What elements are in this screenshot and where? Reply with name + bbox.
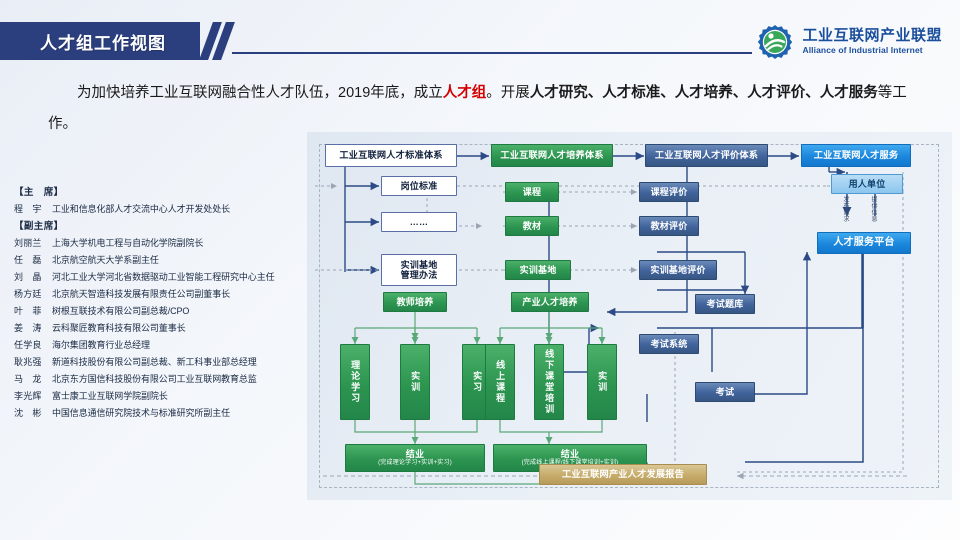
service-platform[interactable]: 人才服务平台	[817, 232, 911, 254]
list-item: 马 龙北京东方国信科技股份有限公司工业互联网教育总监	[14, 371, 304, 388]
track-industry-child-practice[interactable]: 实训	[587, 344, 617, 420]
roster-org: 河北工业大学河北省数据驱动工业智能工程研究中心主任	[52, 272, 275, 282]
list-item: 叶 菲树根互联技术有限公司副总裁/CPO	[14, 303, 304, 320]
standard-base-rule-line1: 实训基地	[401, 260, 438, 270]
service-employer[interactable]: 用人单位	[831, 174, 903, 194]
list-item: 李光辉富士康工业互联网学院副院长	[14, 388, 304, 405]
completion-teacher-note: (完成理论学习+实训+实习)	[378, 460, 452, 467]
exam-bank[interactable]: 考试题库	[695, 294, 755, 314]
intro-seg-2: 。开展	[486, 85, 530, 101]
page-title: 人才组工作视图	[40, 29, 166, 54]
standard-base-rule-line2: 管理办法	[401, 270, 438, 280]
list-item: 任 磊北京航空航天大学系副主任	[14, 252, 304, 269]
roster-name: 耿兆强	[14, 354, 52, 371]
header-rule	[232, 52, 752, 54]
pillar-evaluation-label: 工业互联网人才评价体系	[655, 150, 758, 161]
track-teacher-child-practice[interactable]: 实训	[400, 344, 430, 420]
industry-child-online-label: 线上课程	[495, 360, 505, 404]
alliance-logo: 工业互联网产业联盟 Alliance of Industrial Interne…	[755, 22, 942, 62]
standard-item-ellipsis[interactable]: ……	[381, 212, 457, 232]
service-label-publish-demand: 发布需求	[841, 196, 850, 222]
roster-org: 云科聚匠教育科技有限公司董事长	[52, 323, 186, 333]
teacher-child-practice-label: 实训	[410, 371, 420, 393]
service-platform-label: 人才服务平台	[833, 237, 894, 249]
roster-chair-heading: 【主 席】	[14, 184, 304, 201]
intro-bold-list: 人才研究、人才标准、人才培养、人才评价、人才服务	[530, 85, 878, 101]
pillar-standard-label: 工业互联网人才标准体系	[339, 150, 442, 161]
resource-material-label: 教材	[523, 221, 541, 231]
completion-teacher-title: 结业	[406, 449, 424, 459]
roster-name: 刘 晶	[14, 269, 52, 286]
evaluation-base-label: 实训基地评价	[650, 265, 705, 275]
industry-child-practice-label: 实训	[597, 371, 607, 393]
roster-name: 任 磊	[14, 252, 52, 269]
roster-name: 马 龙	[14, 371, 52, 388]
list-item: 刘 晶河北工业大学河北省数据驱动工业智能工程研究中心主任	[14, 269, 304, 286]
intro-highlight: 人才组	[443, 85, 487, 101]
roster-org: 新道科技股份有限公司副总裁、新工科事业部总经理	[52, 357, 257, 367]
standard-item-post[interactable]: 岗位标准	[381, 176, 457, 196]
exam[interactable]: 考试	[695, 382, 755, 402]
pillar-service[interactable]: 工业互联网人才服务	[801, 144, 911, 167]
roster-org: 树根互联技术有限公司副总裁/CPO	[52, 306, 189, 316]
evaluation-course[interactable]: 课程评价	[639, 182, 699, 202]
intro-seg-1: 为加快培养工业互联网融合性人才队伍，2019年底，成立	[77, 85, 443, 101]
list-item: 沈 彬中国信息通信研究院技术与标准研究所副主任	[14, 405, 304, 422]
roster-org: 上海大学机电工程与自动化学院副院长	[52, 238, 203, 248]
list-item: 刘丽兰上海大学机电工程与自动化学院副院长	[14, 235, 304, 252]
roster-org: 北京航天智造科技发展有限责任公司副董事长	[52, 289, 230, 299]
completion-teacher[interactable]: 结业 (完成理论学习+实训+实习)	[345, 444, 485, 472]
track-industry-child-offline[interactable]: 线下课堂培训	[534, 344, 564, 420]
logo-text-en: Alliance of Industrial Internet	[802, 45, 942, 56]
report-label: 工业互联网产业人才发展报告	[562, 469, 684, 480]
roster-name: 沈 彬	[14, 405, 52, 422]
roster-org: 工业和信息化部人才交流中心人才开发处处长	[52, 204, 230, 214]
roster-org: 富士康工业互联网学院副院长	[52, 391, 168, 401]
roster-org: 中国信息通信研究院技术与标准研究所副主任	[52, 408, 230, 418]
track-teacher[interactable]: 教师培养	[383, 292, 447, 312]
list-item: 杨方廷北京航天智造科技发展有限责任公司副董事长	[14, 286, 304, 303]
exam-system[interactable]: 考试系统	[639, 334, 699, 354]
evaluation-material-label: 教材评价	[651, 221, 688, 231]
pillar-standard-system[interactable]: 工业互联网人才标准体系	[325, 144, 457, 167]
roster-org: 北京东方国信科技股份有限公司工业互联网教育总监	[52, 374, 257, 384]
industry-child-offline-label: 线下课堂培训	[544, 349, 554, 415]
roster-org: 北京航空航天大学系副主任	[52, 255, 159, 265]
resource-base-label: 实训基地	[520, 265, 557, 275]
roster-vice-heading: 【副主席】	[14, 218, 304, 235]
roster-name: 李光辉	[14, 388, 52, 405]
standard-item-base-rule[interactable]: 实训基地 管理办法	[381, 254, 457, 286]
list-item: 姜 涛云科聚匠教育科技有限公司董事长	[14, 320, 304, 337]
list-item: 任学良海尔集团教育行业总经理	[14, 337, 304, 354]
resource-training-base[interactable]: 实训基地	[505, 260, 571, 280]
pillar-service-label: 工业互联网人才服务	[814, 150, 899, 161]
roster-name: 刘丽兰	[14, 235, 52, 252]
track-industry-label: 产业人才培养	[522, 297, 577, 307]
track-teacher-child-theory[interactable]: 理论学习	[340, 344, 370, 420]
evaluation-course-label: 课程评价	[651, 187, 688, 197]
exam-system-label: 考试系统	[651, 339, 688, 349]
standard-post-label: 岗位标准	[401, 181, 438, 191]
track-teacher-label: 教师培养	[397, 297, 434, 307]
evaluation-training-base[interactable]: 实训基地评价	[639, 260, 717, 280]
pillar-evaluation-system[interactable]: 工业互联网人才评价体系	[645, 144, 768, 167]
list-item: 耿兆强新道科技股份有限公司副总裁、新工科事业部总经理	[14, 354, 304, 371]
pillar-cultivation-system[interactable]: 工业互联网人才培养体系	[491, 144, 613, 167]
gear-wifi-logo-icon	[755, 22, 795, 62]
service-label-provide-info: 提供信息	[869, 196, 878, 222]
resource-course[interactable]: 课程	[505, 182, 559, 202]
roster-name: 杨方廷	[14, 286, 52, 303]
intro-paragraph: 为加快培养工业互联网融合性人才队伍，2019年底，成立人才组。开展人才研究、人才…	[48, 78, 928, 140]
talent-development-report[interactable]: 工业互联网产业人才发展报告	[539, 464, 707, 485]
talent-workflow-diagram: 工业互联网人才标准体系 工业互联网人才培养体系 工业互联网人才评价体系 工业互联…	[307, 132, 952, 500]
roster-name: 姜 涛	[14, 320, 52, 337]
pillar-cultivation-label: 工业互联网人才培养体系	[500, 150, 603, 161]
teacher-child-theory-label: 理论学习	[350, 360, 360, 404]
roster-org: 海尔集团教育行业总经理	[52, 340, 150, 350]
resource-course-label: 课程	[523, 187, 541, 197]
service-employer-label: 用人单位	[849, 179, 886, 189]
roster-name: 程 宇	[14, 201, 52, 218]
resource-material[interactable]: 教材	[505, 216, 559, 236]
completion-industry-title: 结业	[561, 449, 579, 459]
exam-label: 考试	[716, 387, 734, 397]
standard-ellipsis-label: ……	[410, 217, 428, 227]
roster-name: 叶 菲	[14, 303, 52, 320]
track-industry[interactable]: 产业人才培养	[511, 292, 589, 312]
teacher-child-internship-label: 实习	[472, 371, 482, 393]
track-industry-child-online[interactable]: 线上课程	[485, 344, 515, 420]
exam-bank-label: 考试题库	[707, 299, 744, 309]
evaluation-material[interactable]: 教材评价	[639, 216, 699, 236]
logo-text-cn: 工业互联网产业联盟	[802, 28, 942, 45]
list-item: 程 宇工业和信息化部人才交流中心人才开发处处长	[14, 201, 304, 218]
roster-name: 任学良	[14, 337, 52, 354]
roster-list: 【主 席】 程 宇工业和信息化部人才交流中心人才开发处处长 【副主席】 刘丽兰上…	[14, 184, 304, 422]
